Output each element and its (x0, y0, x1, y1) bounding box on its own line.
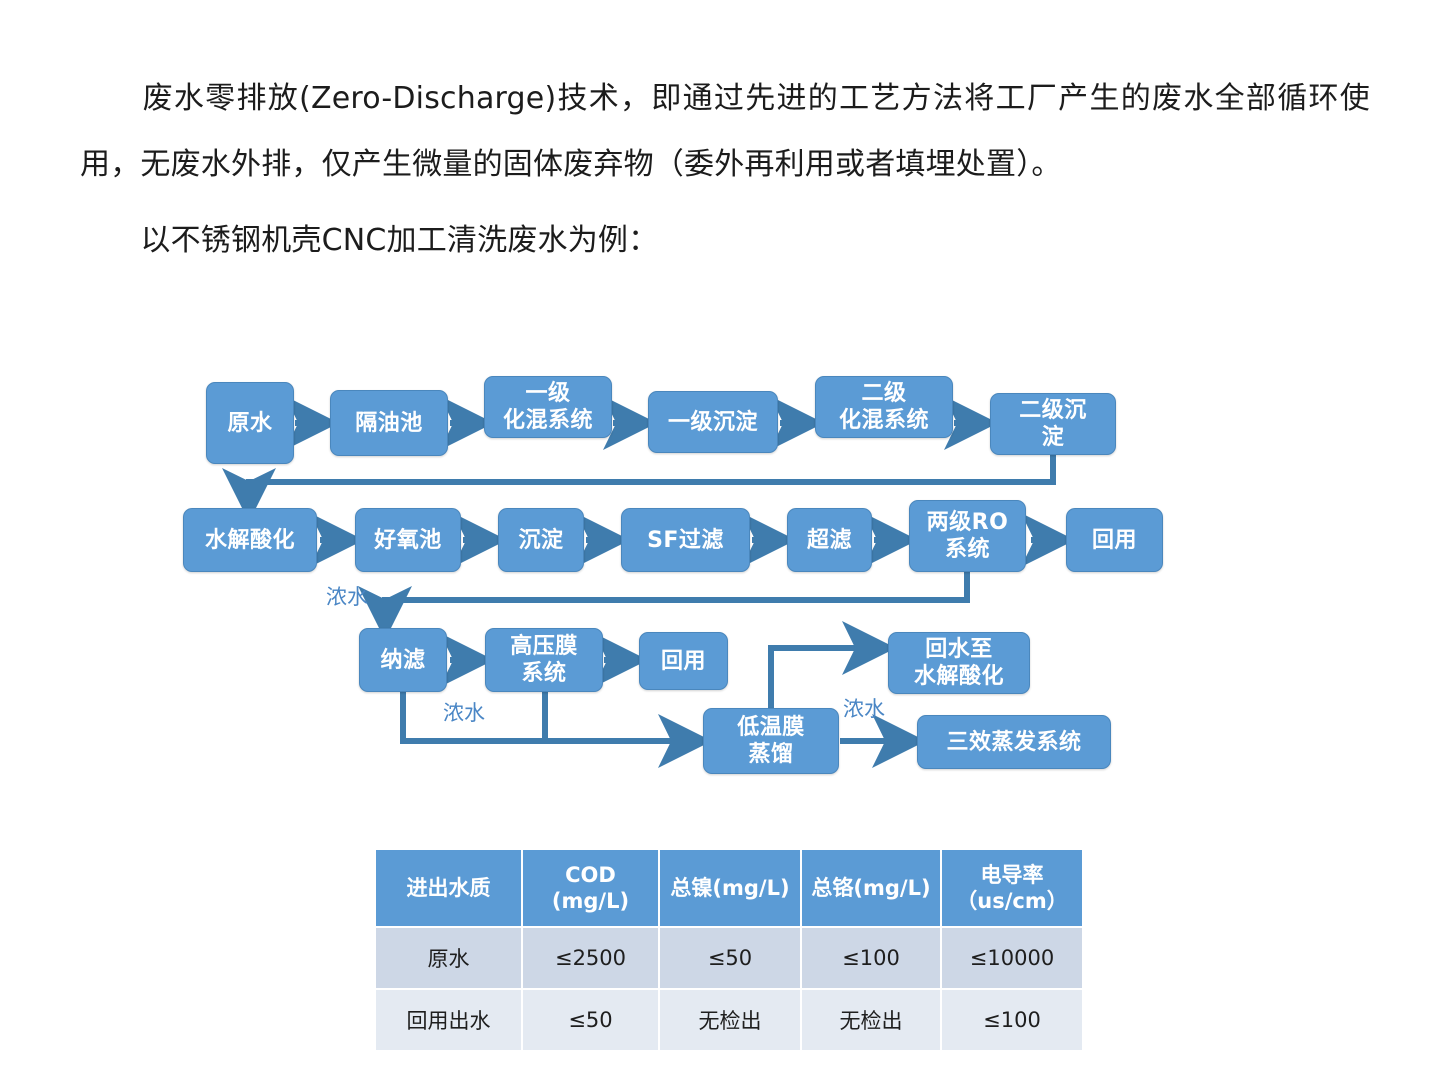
node-ultrafiltration[interactable]: 超滤 (787, 508, 872, 572)
table-cell: 回用出水 (375, 989, 522, 1051)
edge-label-nf-concentrate: 浓水 (443, 703, 485, 724)
node-high-pressure-membrane[interactable]: 高压膜 系统 (485, 628, 603, 692)
table-header-cell-quality: 进出水质 (375, 849, 522, 927)
node-oil-separation-tank[interactable]: 隔油池 (330, 390, 448, 456)
node-primary-coagulation[interactable]: 一级 化混系统 (484, 376, 612, 438)
table-header-cell-conductivity: 电导率 （us/cm） (941, 849, 1083, 927)
table-row: 原水 ≤2500 ≤50 ≤100 ≤10000 (375, 927, 1083, 989)
node-two-stage-ro[interactable]: 两级RO 系统 (909, 500, 1026, 572)
water-quality-table: 进出水质 COD (mg/L) 总镍(mg/L) 总铬(mg/L) 电导率 （u… (374, 848, 1084, 1052)
node-triple-effect-evaporation[interactable]: 三效蒸发系统 (917, 715, 1111, 769)
table-cell: 原水 (375, 927, 522, 989)
table-cell: 无检出 (659, 989, 801, 1051)
table-header-cell-chromium: 总铬(mg/L) (801, 849, 941, 927)
node-reuse-after-hpm[interactable]: 回用 (639, 632, 728, 690)
node-reuse-after-ro[interactable]: 回用 (1066, 508, 1163, 572)
node-return-to-hydrolysis[interactable]: 回水至 水解酸化 (888, 632, 1030, 694)
table-cell: ≤100 (941, 989, 1083, 1051)
node-secondary-sedimentation[interactable]: 二级沉 淀 (990, 393, 1116, 455)
table-row: 回用出水 ≤50 无检出 无检出 ≤100 (375, 989, 1083, 1051)
paragraph-zero-discharge-definition: 废水零排放(Zero-Discharge)技术，即通过先进的工艺方法将工厂产生的… (80, 66, 1370, 198)
table-cell: ≤50 (522, 989, 659, 1051)
table-cell: ≤10000 (941, 927, 1083, 989)
table-cell: ≤100 (801, 927, 941, 989)
node-nanofiltration[interactable]: 纳滤 (359, 628, 447, 692)
table-header-row: 进出水质 COD (mg/L) 总镍(mg/L) 总铬(mg/L) 电导率 （u… (375, 849, 1083, 927)
edge-label-ro-concentrate: 浓水 (326, 587, 368, 608)
edge-label-mdist-concentrate: 浓水 (843, 699, 885, 720)
node-raw-water[interactable]: 原水 (206, 382, 294, 464)
table-cell: ≤2500 (522, 927, 659, 989)
node-aerobic-tank[interactable]: 好氧池 (355, 508, 461, 572)
node-secondary-coagulation[interactable]: 二级 化混系统 (815, 376, 953, 438)
process-flowchart: 原水 隔油池 一级 化混系统 一级沉淀 二级 化混系统 二级沉 淀 水解酸化 好… (0, 360, 1440, 790)
node-sf-filtration[interactable]: SF过滤 (621, 508, 750, 572)
node-low-temp-membrane-distillation[interactable]: 低温膜 蒸馏 (703, 708, 839, 774)
table-cell: ≤50 (659, 927, 801, 989)
node-sedimentation[interactable]: 沉淀 (498, 508, 584, 572)
table-cell: 无检出 (801, 989, 941, 1051)
table-header-cell-cod: COD (mg/L) (522, 849, 659, 927)
paragraph-example-intro: 以不锈钢机壳CNC加工清洗废水为例： (80, 208, 1370, 274)
document-body: 废水零排放(Zero-Discharge)技术，即通过先进的工艺方法将工厂产生的… (80, 66, 1370, 274)
node-hydrolysis-acidification[interactable]: 水解酸化 (183, 508, 317, 572)
connector-ro-concentrate-to-nf (385, 572, 967, 628)
node-primary-sedimentation[interactable]: 一级沉淀 (648, 391, 778, 453)
table-header-cell-nickel: 总镍(mg/L) (659, 849, 801, 927)
